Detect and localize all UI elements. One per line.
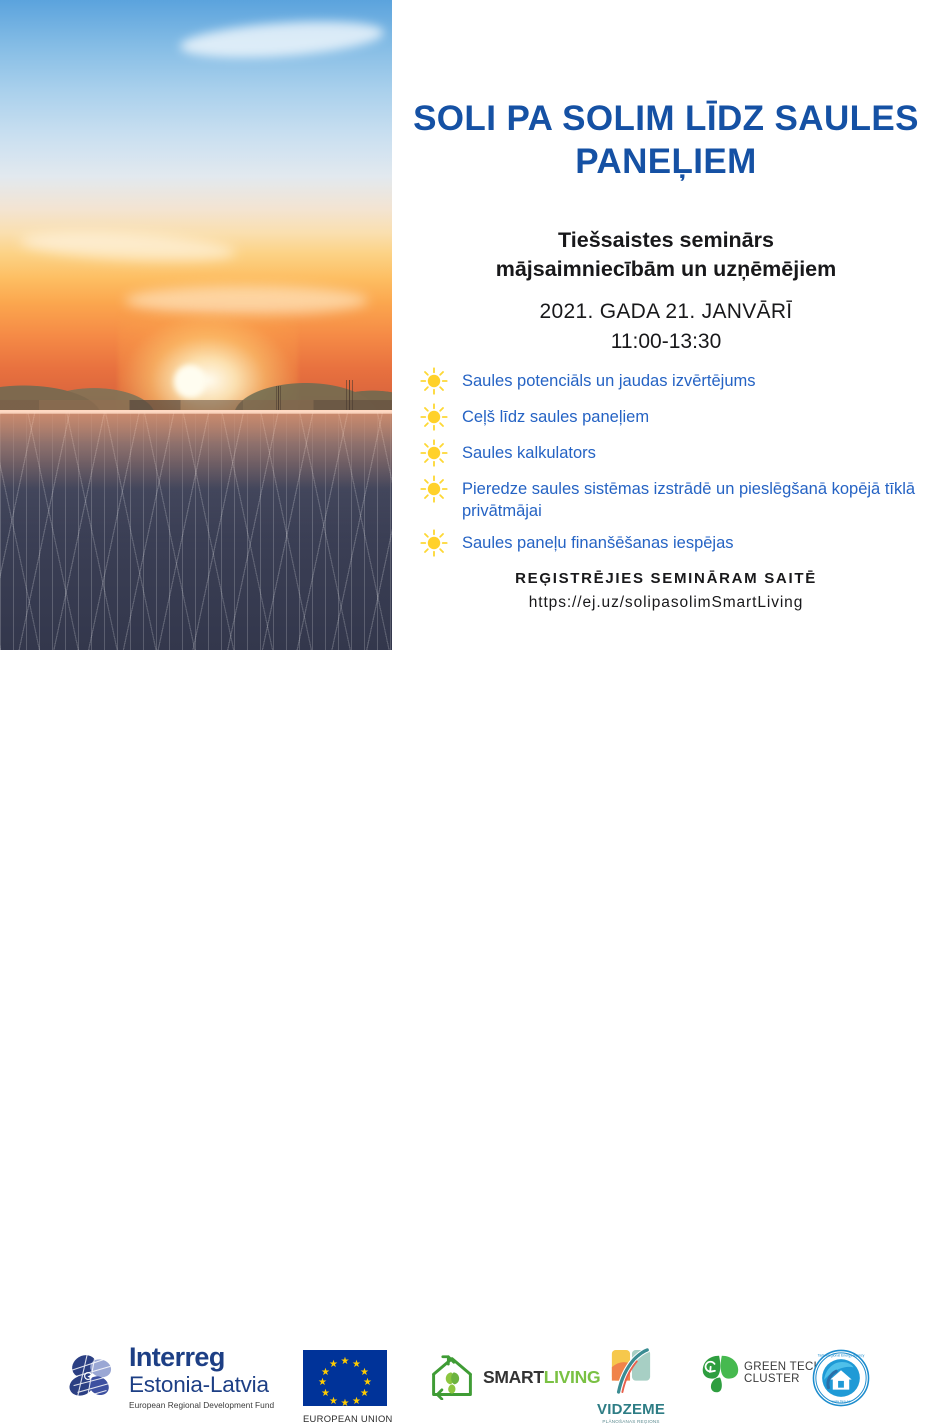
gtc-line-2: CLUSTER xyxy=(744,1373,822,1385)
page-title: SOLI PA SOLIM LĪDZ SAULES PANEĻIEM xyxy=(392,98,940,183)
registration-url[interactable]: https://ej.uz/solipasolimSmartLiving xyxy=(416,594,916,612)
smartliving-word-living: LIVING xyxy=(544,1367,601,1387)
interreg-estonia-latvia-logo: Interreg Estonia-Latvia European Regiona… xyxy=(62,1344,274,1409)
energy-agency-house-icon: Tartu Regional Energy Agency www.trea.ee xyxy=(812,1394,870,1411)
list-item: Saules paneļu finanšēšanas iespējas xyxy=(420,528,930,558)
trea-ring-text: Tartu Regional Energy Agency xyxy=(818,1353,865,1357)
sun-icon xyxy=(420,475,448,503)
leaf-recycle-icon xyxy=(700,1352,740,1394)
green-tech-cluster-wordmark: GREEN TECH CLUSTER xyxy=(744,1361,822,1385)
interreg-name: Interreg xyxy=(129,1344,274,1371)
house-leaf-icon xyxy=(428,1354,476,1400)
sun-icon xyxy=(420,529,448,557)
green-tech-cluster-logo: GREEN TECH CLUSTER xyxy=(700,1352,822,1394)
eu-label: EUROPEAN UNION xyxy=(303,1413,393,1424)
hero-photo-solar-panels xyxy=(0,0,392,650)
event-time: 11:00-13:30 xyxy=(416,327,916,357)
event-date: 2021. GADA 21. JANVĀRĪ xyxy=(416,297,916,327)
vidzeme-mark-icon xyxy=(609,1381,653,1398)
solar-panel-array xyxy=(0,410,392,651)
list-item: Pieredze saules sistēmas izstrādē un pie… xyxy=(420,474,930,522)
interreg-region: Estonia-Latvia xyxy=(129,1374,274,1397)
sun-icon xyxy=(420,367,448,395)
partner-logo-bar: Interreg Estonia-Latvia European Regiona… xyxy=(0,650,940,788)
interreg-fund-line: European Regional Development Fund xyxy=(129,1401,274,1409)
eu-flag-icon: ★ ★ ★ ★ ★ ★ ★ ★ ★ ★ ★ ★ xyxy=(303,1350,387,1406)
list-item-label: Pieredze saules sistēmas izstrādē un pie… xyxy=(462,474,930,522)
vidzeme-wordmark: VIDZEME xyxy=(597,1401,665,1418)
sun-icon xyxy=(420,439,448,467)
vidzeme-logo: VIDZEME PLĀNOŠANAS REĢIONS xyxy=(597,1348,665,1424)
event-datetime: 2021. GADA 21. JANVĀRĪ 11:00-13:30 xyxy=(416,297,916,358)
sun-icon xyxy=(420,403,448,431)
interreg-wordmark: Interreg Estonia-Latvia European Regiona… xyxy=(129,1344,274,1409)
tartu-regional-energy-agency-logo: Tartu Regional Energy Agency www.trea.ee xyxy=(812,1349,870,1412)
list-item-label: Saules kalkulators xyxy=(462,438,596,464)
trea-url-text: www.trea.ee xyxy=(831,1400,850,1404)
subtitle-line-2: mājsaimniecībām un uzņēmējiem xyxy=(416,255,916,284)
registration-heading: REĢISTRĒJIES SEMINĀRAM SAITĒ xyxy=(416,570,916,587)
interreg-mark-icon xyxy=(62,1347,120,1405)
european-union-logo: ★ ★ ★ ★ ★ ★ ★ ★ ★ ★ ★ ★ EUROPEAN UNION xyxy=(303,1350,393,1424)
list-item-label: Saules potenciāls un jaudas izvērtējums xyxy=(462,366,756,392)
list-item-label: Ceļš līdz saules paneļiem xyxy=(462,402,649,428)
smartliving-logo: SMARTLIVING xyxy=(428,1354,600,1400)
registration-block: REĢISTRĒJIES SEMINĀRAM SAITĒ https://ej.… xyxy=(416,570,916,612)
agenda-list: Saules potenciāls un jaudas izvērtējums xyxy=(420,366,930,564)
subtitle: Tiešsaistes seminārs mājsaimniecībām un … xyxy=(416,226,916,283)
smartliving-wordmark: SMARTLIVING xyxy=(483,1367,600,1388)
list-item: Saules potenciāls un jaudas izvērtējums xyxy=(420,366,930,396)
list-item-label: Saules paneļu finanšēšanas iespējas xyxy=(462,528,734,554)
subtitle-line-1: Tiešsaistes seminārs xyxy=(416,226,916,255)
smartliving-word-smart: SMART xyxy=(483,1367,544,1387)
list-item: Ceļš līdz saules paneļiem xyxy=(420,402,930,432)
list-item: Saules kalkulators xyxy=(420,438,930,468)
poster-content: SOLI PA SOLIM LĪDZ SAULES PANEĻIEM Tiešs… xyxy=(392,0,940,650)
gtc-line-1: GREEN TECH xyxy=(744,1361,822,1373)
vidzeme-subtitle: PLĀNOŠANAS REĢIONS xyxy=(597,1419,665,1424)
